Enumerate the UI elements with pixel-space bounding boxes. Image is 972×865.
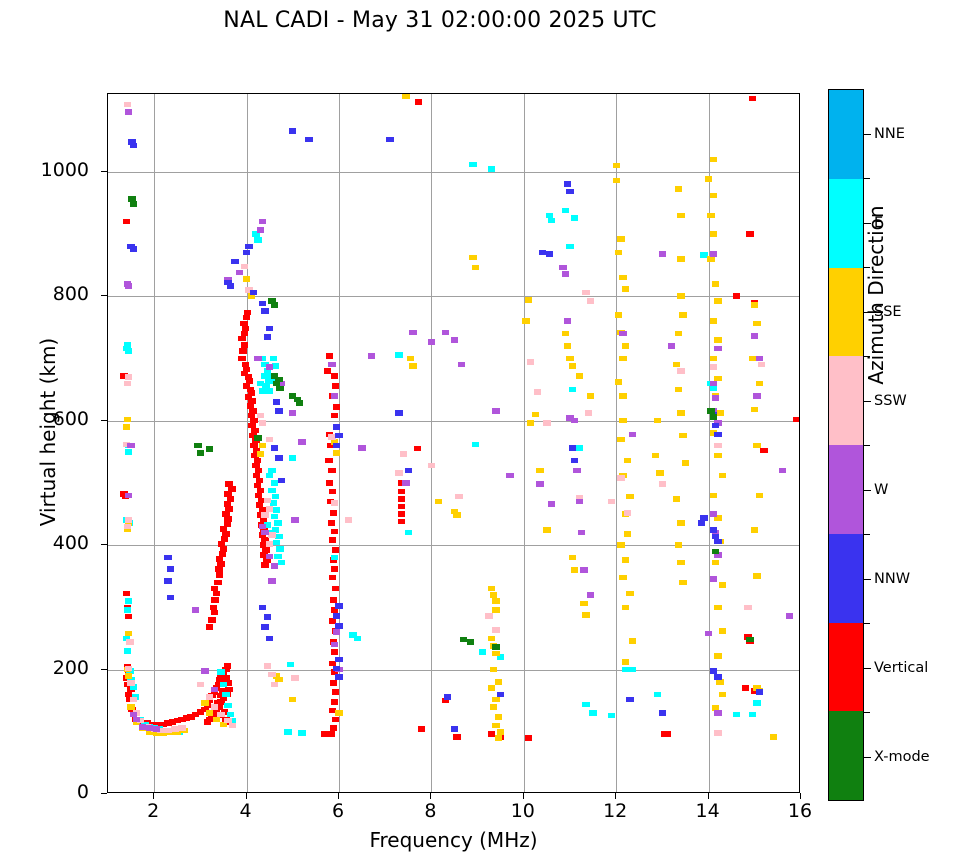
echo-marker-x-mode: [271, 302, 278, 308]
echo-marker-sse: [679, 580, 686, 586]
echo-marker-nnw: [710, 668, 717, 674]
echo-marker-vertical: [418, 726, 425, 732]
echo-marker-sse: [710, 318, 717, 324]
echo-marker-sse: [617, 542, 624, 548]
echo-marker-e: [217, 669, 224, 675]
echo-marker-sse: [495, 679, 502, 685]
echo-marker-w: [492, 408, 499, 414]
echo-marker-vertical: [224, 501, 231, 507]
echo-marker-x-mode: [275, 377, 282, 383]
echo-marker-sse: [622, 343, 629, 349]
echo-marker-e: [576, 445, 583, 451]
echo-marker-sse: [673, 496, 680, 502]
echo-marker-sse: [677, 213, 684, 219]
echo-marker-w: [127, 443, 134, 449]
echo-marker-sse: [527, 420, 534, 426]
y-tick-label: 0: [9, 781, 89, 803]
echo-marker-nnw: [278, 478, 285, 484]
echo-marker-vertical: [222, 511, 229, 517]
echo-marker-nnw: [756, 689, 763, 695]
x-axis-label: Frequency (MHz): [107, 828, 800, 852]
echo-marker-w: [619, 331, 626, 337]
echo-marker-nnw: [167, 566, 174, 572]
echo-marker-vertical: [261, 562, 268, 568]
echo-marker-w: [133, 717, 140, 723]
echo-marker-w: [573, 468, 580, 474]
echo-marker-vertical: [123, 219, 130, 225]
echo-marker-vertical: [746, 231, 753, 237]
echo-marker-w: [751, 333, 758, 339]
echo-marker-nnw: [566, 189, 573, 195]
echo-marker-vertical: [329, 575, 336, 581]
echo-marker-sse: [756, 381, 763, 387]
echo-marker-sse: [525, 297, 532, 303]
echo-marker-nnw: [335, 657, 342, 663]
echo-marker-vertical: [663, 731, 670, 737]
echo-marker-vertical: [215, 566, 222, 572]
echo-marker-w: [559, 265, 566, 271]
echo-marker-e: [275, 534, 282, 540]
echo-marker-sse: [125, 631, 132, 637]
echo-marker-sse: [675, 542, 682, 548]
echo-marker-sse: [716, 410, 723, 416]
echo-marker-vertical: [225, 481, 232, 487]
echo-marker-x-mode: [194, 443, 201, 449]
echo-marker-w: [153, 726, 160, 732]
y-tick: [101, 420, 107, 421]
echo-marker-w: [629, 432, 636, 438]
echo-marker-sse: [710, 356, 717, 362]
x-tick: [430, 793, 431, 799]
echo-marker-vertical: [225, 506, 232, 512]
echo-marker-sse: [488, 685, 495, 691]
echo-marker-vertical: [398, 511, 405, 517]
echo-marker-x-mode: [206, 446, 213, 452]
echo-marker-sse: [615, 379, 622, 385]
echo-marker-w: [192, 607, 199, 613]
echo-marker-sse: [543, 527, 550, 533]
echo-marker-e: [331, 555, 338, 561]
echo-marker-vertical: [329, 489, 336, 495]
echo-marker-e: [278, 560, 285, 566]
echo-marker-nnw: [714, 674, 721, 680]
echo-marker-sse: [751, 527, 758, 533]
echo-marker-nnw: [273, 399, 280, 405]
echo-marker-nnw: [275, 455, 282, 461]
echo-marker-ssw: [241, 264, 248, 270]
echo-marker-sse: [613, 163, 620, 169]
echo-marker-e: [569, 387, 576, 393]
colorbar-tick: [864, 668, 871, 669]
echo-marker-w: [712, 395, 719, 401]
echo-marker-sse: [712, 281, 719, 287]
colorbar-segment-w: [829, 445, 863, 534]
colorbar-segment-e: [829, 179, 863, 268]
echo-marker-ssw: [211, 704, 218, 710]
echo-marker-w: [714, 346, 721, 352]
echo-marker-sse: [675, 387, 682, 393]
echo-marker-e: [270, 356, 277, 362]
colorbar-segment-x-mode: [829, 711, 863, 800]
echo-marker-sse: [719, 692, 726, 698]
x-tick: [615, 793, 616, 799]
echo-marker-e: [259, 388, 266, 394]
echo-marker-vertical: [331, 373, 338, 379]
echo-marker-sse: [622, 659, 629, 665]
echo-marker-sse: [536, 468, 543, 474]
echo-marker-nnw: [227, 283, 234, 289]
echo-marker-sse: [719, 628, 726, 634]
echo-marker-e: [124, 607, 131, 613]
echo-marker-sse: [677, 410, 684, 416]
echo-marker-w: [402, 480, 409, 486]
echo-marker-sse: [624, 458, 631, 464]
echo-marker-vertical: [240, 321, 247, 327]
echo-marker-vertical: [733, 293, 740, 299]
echo-marker-ssw: [197, 682, 204, 688]
echo-marker-ssw: [331, 500, 338, 506]
echo-marker-vertical: [331, 699, 338, 705]
echo-marker-sse: [409, 363, 416, 369]
colorbar-tick: [864, 490, 871, 491]
echo-marker-w: [289, 410, 296, 416]
colorbar-label-nnw: NNW: [874, 571, 910, 587]
echo-marker-ssw: [264, 663, 271, 669]
echo-marker-vertical: [326, 353, 333, 359]
echo-marker-sse: [677, 560, 684, 566]
echo-marker-vertical: [793, 417, 799, 423]
echo-marker-vertical: [324, 368, 331, 374]
echo-marker-vertical: [332, 547, 339, 553]
echo-marker-nnw: [305, 137, 312, 143]
colorbar-segment-sse: [829, 268, 863, 357]
colorbar-boundary-tick: [864, 534, 870, 535]
echo-marker-e: [222, 692, 229, 698]
echo-marker-sse: [492, 723, 499, 729]
echo-marker-w: [266, 364, 273, 370]
echo-marker-w: [536, 481, 543, 487]
echo-marker-vertical: [238, 336, 245, 342]
echo-marker-ssw: [624, 510, 631, 516]
echo-marker-vertical: [211, 586, 218, 592]
echo-marker-sse: [619, 575, 626, 581]
echo-marker-sse: [492, 607, 499, 613]
echo-marker-e: [224, 703, 231, 709]
echo-marker-w: [125, 283, 132, 289]
echo-marker-nnw: [569, 445, 576, 451]
echo-marker-w: [442, 330, 449, 336]
y-tick: [101, 295, 107, 296]
echo-marker-w: [409, 330, 416, 336]
echo-marker-nnw: [386, 137, 393, 143]
echo-marker-sse: [626, 591, 633, 597]
echo-marker-sse: [569, 555, 576, 561]
echo-marker-sse: [622, 605, 629, 611]
echo-marker-sse: [407, 356, 414, 362]
echo-marker-nnw: [333, 613, 340, 619]
echo-marker-sse: [619, 275, 626, 281]
echo-marker-vertical: [329, 537, 336, 543]
echo-marker-vertical: [398, 496, 405, 502]
echo-marker-sse: [679, 433, 686, 439]
echo-marker-nnw: [245, 244, 252, 250]
echo-marker-sse: [562, 331, 569, 337]
echo-marker-w: [458, 362, 465, 368]
y-tick: [101, 544, 107, 545]
echo-marker-sse: [492, 598, 499, 604]
echo-marker-e: [254, 237, 261, 243]
echo-marker-e: [125, 449, 132, 455]
echo-marker-vertical: [216, 556, 223, 562]
echo-marker-sse: [615, 312, 622, 318]
echo-marker-nnw: [164, 555, 171, 561]
echo-marker-sse: [714, 453, 721, 459]
echo-marker-vertical: [221, 536, 228, 542]
echo-marker-sse: [488, 636, 495, 642]
echo-marker-sse: [335, 710, 342, 716]
echo-marker-nnw: [266, 636, 273, 642]
echo-marker-vertical: [239, 348, 246, 354]
echo-marker-ssw: [582, 290, 589, 296]
echo-marker-sse: [629, 638, 636, 644]
echo-marker-vertical: [224, 663, 231, 669]
x-tick-label: 10: [493, 800, 553, 822]
echo-marker-e: [227, 712, 234, 718]
echo-marker-sse: [626, 494, 633, 500]
echo-marker-w: [261, 530, 268, 536]
echo-marker-ssw: [217, 712, 224, 718]
echo-marker-sse: [714, 605, 721, 611]
echo-marker-nnw: [444, 694, 451, 700]
echo-marker-e: [273, 507, 280, 513]
echo-marker-ssw: [758, 362, 765, 368]
echo-marker-ssw: [714, 730, 721, 736]
echo-marker-sse: [710, 193, 717, 199]
echo-marker-sse: [751, 407, 758, 413]
echo-marker-sse: [712, 560, 719, 566]
echo-marker-e: [124, 648, 131, 654]
echo-marker-ssw: [395, 470, 402, 476]
echo-marker-e: [271, 514, 278, 520]
echo-marker-nnw: [335, 623, 342, 629]
echo-marker-e: [395, 352, 402, 358]
echo-marker-nnw: [231, 259, 238, 265]
echo-marker-sse: [289, 697, 296, 703]
echo-marker-e: [566, 244, 573, 250]
echo-marker-e: [654, 692, 661, 698]
colorbar-boundary-tick: [864, 623, 870, 624]
echo-marker-nnw: [451, 726, 458, 732]
colorbar-title: Azimuth Direction: [864, 145, 888, 445]
echo-marker-sse: [206, 710, 213, 716]
echo-marker-nnw: [571, 458, 578, 464]
echo-marker-nnw: [333, 443, 340, 449]
echo-marker-e: [582, 702, 589, 708]
echo-marker-x-mode: [296, 400, 303, 406]
echo-marker-vertical: [332, 689, 339, 695]
echo-marker-ssw: [485, 613, 492, 619]
echo-marker-sse: [490, 592, 497, 598]
echo-marker-sse: [453, 512, 460, 518]
x-tick: [153, 793, 154, 799]
plot-area: [107, 93, 800, 793]
x-tick-label: 16: [770, 800, 830, 822]
echo-marker-vertical: [414, 446, 421, 452]
echo-marker-sse: [492, 697, 499, 703]
echo-marker-ssw: [266, 506, 273, 512]
y-tick: [101, 669, 107, 670]
x-tick: [800, 793, 801, 799]
echo-marker-w: [331, 393, 338, 399]
echo-marker-nnw: [335, 433, 342, 439]
echo-marker-vertical: [330, 597, 337, 603]
colorbar-boundary-tick: [864, 712, 870, 713]
echo-marker-sse: [714, 337, 721, 343]
echo-marker-vertical: [525, 735, 532, 741]
echo-marker-x-mode: [712, 549, 719, 555]
echo-marker-sse: [435, 499, 442, 505]
echo-marker-vertical: [220, 546, 227, 552]
echo-marker-ssw: [178, 725, 185, 731]
echo-marker-ssw: [587, 298, 594, 304]
colorbar-segment-nne: [829, 90, 863, 179]
echo-marker-w: [710, 251, 717, 257]
echo-marker-w: [779, 468, 786, 474]
echo-marker-sse: [710, 493, 717, 499]
echo-marker-sse: [571, 567, 578, 573]
echo-marker-vertical: [219, 551, 226, 557]
echo-marker-sse: [675, 186, 682, 192]
echo-marker-vertical: [332, 586, 339, 592]
echo-marker-sse: [677, 256, 684, 262]
echo-marker-sse: [714, 653, 721, 659]
echo-marker-x-mode: [710, 414, 717, 420]
echo-marker-e: [289, 455, 296, 461]
y-tick-label: 200: [9, 657, 89, 679]
echo-marker-vertical: [326, 480, 333, 486]
echo-marker-w: [236, 270, 243, 276]
echo-marker-sse: [127, 704, 134, 710]
echo-marker-sse: [490, 704, 497, 710]
echo-marker-w: [266, 554, 273, 560]
echo-marker-nnw: [167, 595, 174, 601]
echo-marker-ssw: [268, 532, 275, 538]
echo-marker-ssw: [659, 481, 666, 487]
echo-marker-nnw: [659, 710, 666, 716]
echo-marker-nnw: [261, 624, 268, 630]
echo-marker-e: [123, 346, 130, 352]
echo-marker-sse: [619, 356, 626, 362]
echo-marker-ssw: [125, 374, 132, 380]
echo-marker-x-mode: [130, 201, 137, 207]
echo-marker-w: [333, 629, 340, 635]
echo-marker-w: [562, 271, 569, 277]
echo-marker-e: [268, 488, 275, 494]
echo-marker-sse: [587, 393, 594, 399]
echo-marker-w: [328, 362, 335, 368]
echo-marker-e: [273, 540, 280, 546]
x-tick-label: 14: [678, 800, 738, 822]
echo-marker-ssw: [608, 499, 615, 505]
echo-marker-vertical: [330, 680, 337, 686]
echo-marker-e: [629, 667, 636, 673]
echo-marker-e: [710, 386, 717, 392]
echo-marker-e: [753, 700, 760, 706]
echo-marker-e: [488, 166, 495, 172]
echo-marker-w: [668, 343, 675, 349]
echo-marker-w: [298, 439, 305, 445]
echo-marker-nnw: [564, 181, 571, 187]
echo-marker-nnw: [264, 334, 271, 340]
echo-marker-vertical: [244, 310, 251, 316]
x-tick-label: 2: [123, 800, 183, 822]
echo-marker-e: [266, 473, 273, 479]
echo-marker-sse: [402, 94, 409, 99]
y-tick-label: 1000: [9, 159, 89, 181]
echo-marker-nnw: [712, 423, 719, 429]
ionogram-figure: NAL CADI - May 31 02:00:00 2025 UTC 2468…: [0, 0, 972, 865]
echo-marker-sse: [617, 437, 624, 443]
echo-marker-sse: [469, 255, 476, 261]
echo-marker-nnw: [714, 432, 721, 438]
echo-marker-vertical: [333, 404, 340, 410]
echo-marker-sse: [124, 417, 131, 423]
echo-marker-sse: [716, 679, 723, 685]
colorbar-tick: [864, 757, 871, 758]
echo-marker-x-mode: [254, 435, 261, 441]
echo-marker-vertical: [224, 516, 231, 522]
echo-marker-ssw: [127, 680, 134, 686]
echo-marker-vertical: [204, 719, 211, 725]
echo-marker-sse: [259, 443, 266, 449]
echo-marker-w: [291, 517, 298, 523]
colorbar-segment-nnw: [829, 534, 863, 623]
echo-marker-ssw: [534, 389, 541, 395]
echo-marker-ssw: [455, 494, 462, 500]
echo-marker-ssw: [124, 102, 131, 108]
echo-marker-e: [272, 494, 279, 500]
echo-marker-vertical: [218, 541, 225, 547]
echo-marker-sse: [488, 586, 495, 592]
echo-marker-sse: [580, 601, 587, 607]
echo-marker-vertical: [216, 572, 223, 578]
echo-marker-x-mode: [197, 450, 204, 456]
echo-marker-sse: [656, 470, 663, 476]
echo-marker-sse: [707, 256, 714, 262]
echo-marker-e: [571, 215, 578, 221]
echo-marker-w: [254, 356, 261, 362]
echo-marker-w: [268, 578, 275, 584]
echo-scatter-canvas: [108, 94, 799, 792]
echo-marker-sse: [201, 700, 208, 706]
echo-marker-vertical: [332, 383, 339, 389]
echo-marker-sse: [654, 418, 661, 424]
echo-marker-ssw: [677, 368, 684, 374]
echo-marker-nnw: [497, 692, 504, 698]
echo-marker-w: [659, 251, 666, 257]
echo-marker-x-mode: [467, 639, 474, 645]
echo-marker-vertical: [243, 315, 250, 321]
echo-marker-sse: [497, 729, 504, 735]
echo-marker-vertical: [331, 566, 338, 572]
echo-marker-sse: [624, 531, 631, 537]
echo-marker-sse: [652, 453, 659, 459]
echo-marker-ssw: [400, 451, 407, 457]
echo-marker-vertical: [330, 510, 337, 516]
echo-marker-e: [405, 530, 412, 536]
echo-marker-w: [125, 493, 132, 499]
x-tick: [523, 793, 524, 799]
